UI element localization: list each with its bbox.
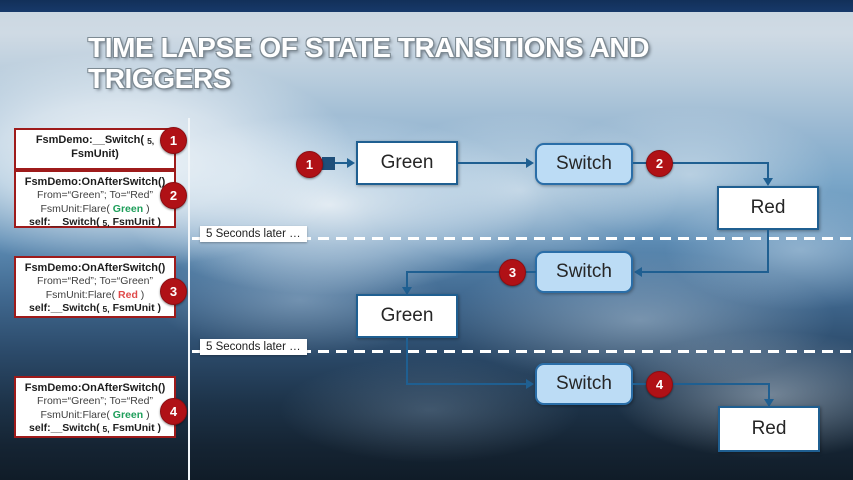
step-badge-4-code: 4 [160,398,187,425]
code-line: FsmDemo:OnAfterSwitch() [21,175,169,189]
code-block-3: FsmDemo:OnAfterSwitch() From=“Red”; To=“… [14,256,176,318]
connector-green-to-switch-r1 [458,162,528,164]
arrowhead-into-red-r1 [763,178,773,186]
step-badge-2-diagram: 2 [646,150,673,177]
code-line: FsmDemo:__Switch( 5, [21,133,169,147]
code-line: self:__Switch( 5, FsmUnit ) [21,302,169,315]
step-badge-2-code: 2 [160,182,187,209]
arrowhead-into-switch-r3 [526,379,534,389]
time-label-1: 5 Seconds later … [200,226,307,242]
arrowhead-into-switch-r2 [634,267,642,277]
code-line: self:__Switch( 5, FsmUnit ) [21,216,169,229]
panel-divider [188,118,190,480]
step-badge-3-code: 3 [160,278,187,305]
slide-canvas: Time Lapse of State Transitions and Trig… [0,0,853,480]
time-label-2: 5 Seconds later … [200,339,307,355]
connector-green-r2-down [406,338,408,384]
step-badge-3-diagram: 3 [499,259,526,286]
code-line: FsmUnit:Flare( Green ) [21,203,169,216]
step-badge-1-diagram: 1 [296,151,323,178]
code-block-2: FsmDemo:OnAfterSwitch() From=“Green”; To… [14,170,176,228]
code-line: FsmDemo:OnAfterSwitch() [21,381,169,395]
state-node-red-r1: Red [717,186,819,230]
connector-green-r2-to-switch-r3 [406,383,528,385]
state-node-green-r1: Green [356,141,458,185]
connector-red-r1-to-switch-r2 [642,271,768,273]
code-line: From=“Green”; To=“Red” [21,189,169,202]
step-badge-1-code: 1 [160,127,187,154]
state-node-red-r3: Red [718,406,820,452]
code-line: From=“Green”; To=“Red” [21,395,169,408]
page-title: Time Lapse of State Transitions and Trig… [88,32,788,95]
arrowhead-into-switch-r1 [526,158,534,168]
arrowhead-into-green-r1 [347,158,355,168]
state-node-green-r2: Green [356,294,458,338]
code-line: FsmDemo:OnAfterSwitch() [21,261,169,275]
switch-node-r3: Switch [535,363,633,405]
code-line: FsmUnit:Flare( Green ) [21,409,169,422]
code-line: FsmUnit:Flare( Red ) [21,289,169,302]
top-accent-band [0,0,853,12]
code-line: FsmUnit) [21,147,169,161]
connector-red-r1-down [767,230,769,273]
code-line: From=“Red”; To=“Green” [21,275,169,288]
start-marker [322,157,335,170]
switch-node-r1: Switch [535,143,633,185]
code-line: self:__Switch( 5, FsmUnit ) [21,422,169,435]
code-block-1: FsmDemo:__Switch( 5, FsmUnit) [14,128,176,170]
switch-node-r2: Switch [535,251,633,293]
code-block-4: FsmDemo:OnAfterSwitch() From=“Green”; To… [14,376,176,438]
step-badge-4-diagram: 4 [646,371,673,398]
